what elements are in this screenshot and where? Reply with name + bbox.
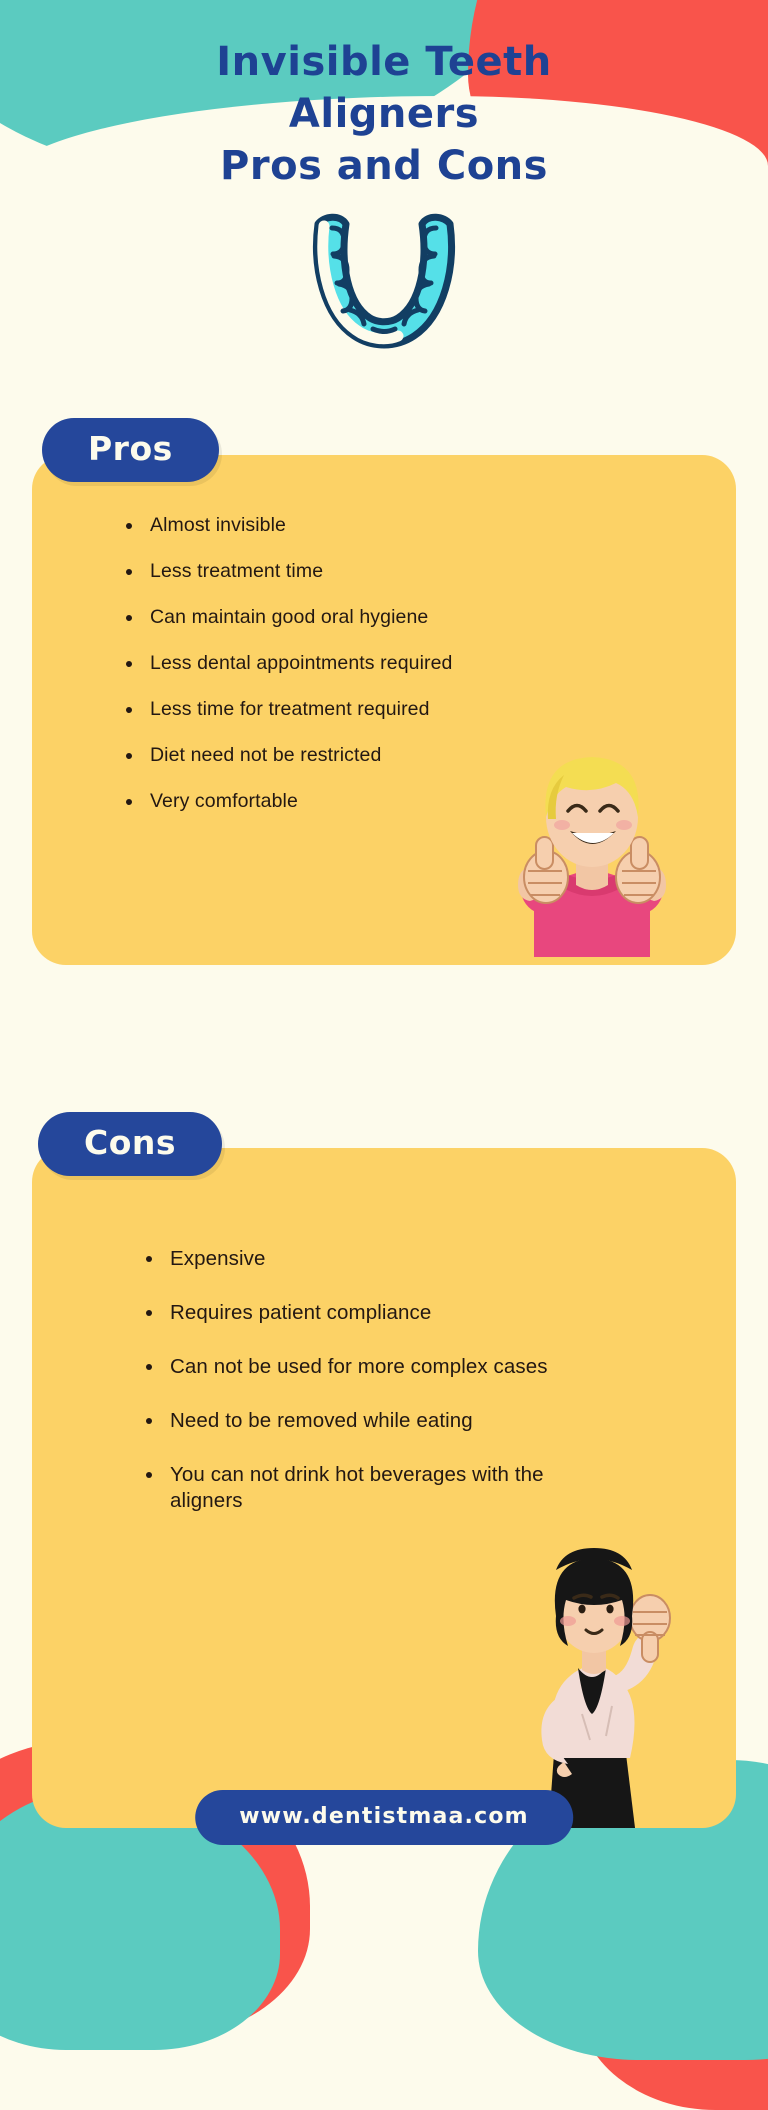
title-line-2: Aligners	[0, 88, 768, 140]
website-footer-pill[interactable]: www.dentistmaa.com	[195, 1790, 573, 1845]
pros-card: Almost invisible Less treatment time Can…	[32, 455, 736, 965]
dental-aligner-icon	[294, 212, 474, 352]
list-item: Less treatment time	[124, 559, 594, 584]
cons-card: Expensive Requires patient compliance Ca…	[32, 1148, 736, 1828]
list-item: Expensive	[144, 1246, 604, 1272]
woman-thumbs-down-illustration	[470, 1546, 710, 1828]
list-item: You can not drink hot beverages with the…	[144, 1462, 604, 1514]
pros-badge: Pros	[42, 418, 219, 482]
website-url: www.dentistmaa.com	[239, 1804, 529, 1829]
list-item: Need to be removed while eating	[144, 1408, 604, 1434]
page-title: Invisible Teeth Aligners Pros and Cons	[0, 36, 768, 192]
list-item: Can not be used for more complex cases	[144, 1354, 604, 1380]
cons-list: Expensive Requires patient compliance Ca…	[144, 1246, 736, 1514]
title-line-1: Invisible Teeth	[0, 36, 768, 88]
list-item: Requires patient compliance	[144, 1300, 604, 1326]
cons-badge: Cons	[38, 1112, 222, 1176]
list-item: Less time for treatment required	[124, 697, 594, 722]
girl-thumbs-up-illustration	[472, 725, 712, 965]
list-item: Can maintain good oral hygiene	[124, 605, 594, 630]
infographic-canvas: Invisible Teeth Aligners Pros and Cons P…	[0, 0, 768, 1920]
title-line-3: Pros and Cons	[0, 140, 768, 192]
list-item: Almost invisible	[124, 513, 594, 538]
list-item: Less dental appointments required	[124, 651, 594, 676]
